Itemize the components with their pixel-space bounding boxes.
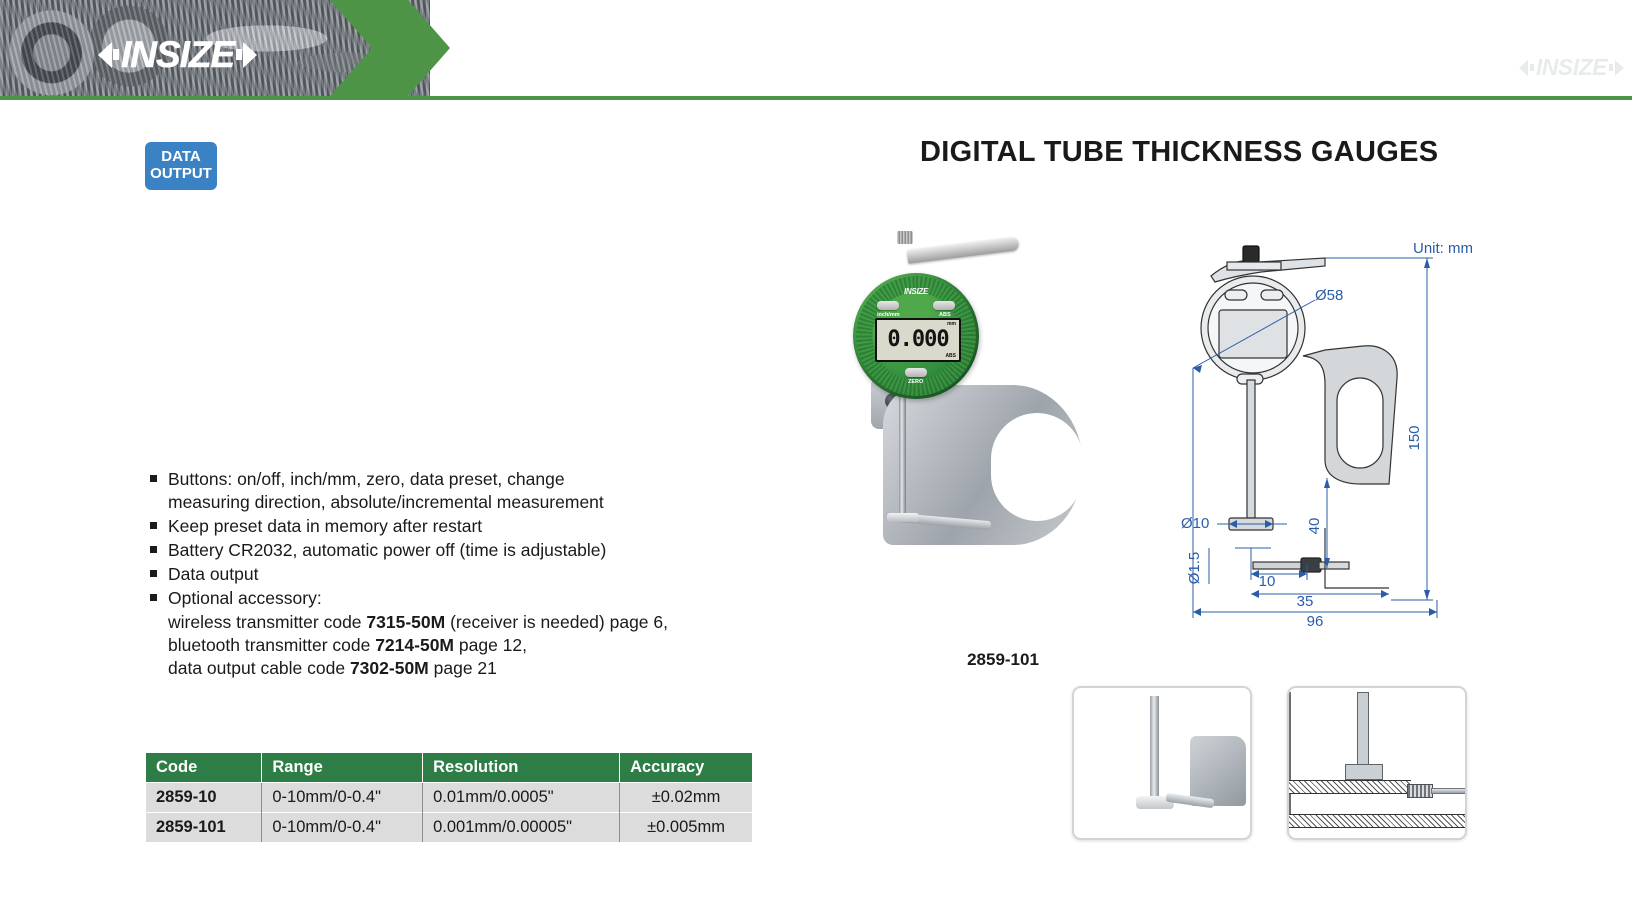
lcd-value: 0.000	[887, 329, 948, 351]
feature-list: Buttons: on/off, inch/mm, zero, data pre…	[148, 468, 788, 681]
zero-button-label: ZERO	[908, 379, 923, 385]
dimension-label-overall-width: 96	[1307, 613, 1324, 628]
column-header-range: Range	[262, 753, 423, 783]
detail-photo-anvil-probe	[1072, 686, 1252, 840]
page-title: DIGITAL TUBE THICKNESS GAUGES	[920, 136, 1438, 169]
logo-left-arrow-icon	[98, 42, 112, 68]
watermark-left-arrow-icon	[1519, 60, 1528, 76]
watermark-right-stem	[1609, 64, 1613, 71]
dimension-label-anvil-diameter: Ø10	[1181, 515, 1209, 532]
table-header-row: Code Range Resolution Accuracy	[146, 753, 752, 783]
column-header-accuracy: Accuracy	[620, 753, 752, 783]
gauge-c-frame	[843, 385, 1073, 585]
detail1-frame-arm	[1190, 736, 1246, 806]
gauge-brand-label: INSIZE	[904, 287, 928, 296]
watermark-right-arrow-icon	[1615, 60, 1624, 76]
logo-right-arrow-stem	[236, 49, 242, 60]
accessory-bluetooth-post: page 12,	[454, 635, 527, 655]
lever-knurled-cap	[897, 231, 913, 244]
detail2-tube-wall-upper	[1289, 780, 1411, 794]
feature-buttons-line2: measuring direction, absolute/incrementa…	[168, 491, 788, 514]
header-green-rule	[0, 96, 1632, 100]
accessory-wireless-code: 7315-50M	[366, 612, 445, 632]
feature-optional-accessory: Optional accessory:	[168, 587, 788, 610]
bullet-square-icon	[150, 522, 157, 529]
accessory-wireless-pre: wireless transmitter code	[168, 612, 366, 632]
specification-table: Code Range Resolution Accuracy 2859-10 0…	[146, 753, 752, 842]
bullet-square-icon	[150, 570, 157, 577]
bullet-square-icon	[150, 475, 157, 482]
detail2-spindle	[1357, 692, 1369, 764]
table-row: 2859-101 0-10mm/0-0.4" 0.001mm/0.00005" …	[146, 813, 752, 843]
anvil-disc	[887, 513, 919, 522]
watermark-left-stem	[1530, 64, 1534, 71]
detail2-tube-wall-lower	[1289, 814, 1465, 828]
product-photo: INSIZE inch/mm ABS 0.000 mm ABS ZERO 285…	[835, 225, 1125, 625]
detail2-probe-shaft	[1431, 788, 1467, 794]
technical-drawing: Unit: mm	[1175, 228, 1475, 628]
cell-range: 0-10mm/0-0.4"	[262, 813, 423, 843]
detail1-spindle	[1150, 696, 1159, 800]
feature-buttons-line1: Buttons: on/off, inch/mm, zero, data pre…	[168, 468, 788, 491]
product-model-label: 2859-101	[913, 650, 1093, 670]
badge-line-1: DATA	[161, 149, 200, 166]
feature-memory: Keep preset data in memory after restart	[168, 515, 788, 538]
logo-wordmark: INSIZE	[121, 36, 234, 73]
inch-mm-button[interactable]	[877, 301, 899, 310]
cell-resolution: 0.001mm/0.00005"	[423, 813, 620, 843]
lcd-mode-indicator: ABS	[945, 353, 956, 359]
accessory-cable-pre: data output cable code	[168, 658, 350, 678]
accessory-cable-post: page 21	[429, 658, 497, 678]
page-header: INSIZE INSIZE	[0, 0, 1632, 100]
accessory-data-cable: data output cable code 7302-50M page 21	[168, 657, 788, 680]
lcd-unit-indicator: mm	[947, 321, 956, 327]
detail2-anvil-block	[1345, 764, 1383, 780]
badge-line-2: OUTPUT	[150, 166, 212, 183]
zero-button[interactable]	[905, 368, 927, 377]
column-header-resolution: Resolution	[423, 753, 620, 783]
bullet-square-icon	[150, 546, 157, 553]
frame-cutout	[991, 413, 1083, 521]
list-item: Keep preset data in memory after restart	[148, 515, 788, 538]
measuring-spindle	[899, 395, 906, 515]
feature-battery: Battery CR2032, automatic power off (tim…	[168, 539, 788, 562]
cell-accuracy: ±0.02mm	[620, 783, 752, 813]
cell-resolution: 0.01mm/0.0005"	[423, 783, 620, 813]
detail2-measuring-probe	[1407, 784, 1433, 798]
accessory-wireless-transmitter: wireless transmitter code 7315-50M (rece…	[168, 611, 788, 634]
accessory-bluetooth-pre: bluetooth transmitter code	[168, 635, 375, 655]
clamp-lever	[907, 236, 1020, 264]
drawing-svg: Ø58 150 40 Ø10 Ø1.5 10 35 96	[1175, 228, 1475, 628]
insize-logo: INSIZE	[98, 36, 257, 73]
cell-code: 2859-101	[146, 813, 262, 843]
dimension-label-overall-height: 150	[1406, 425, 1423, 450]
dimension-label-throat-depth: 40	[1306, 518, 1323, 535]
detail-photo-tube-section	[1287, 686, 1467, 840]
insize-watermark: INSIZE	[1519, 56, 1624, 79]
feature-data-output: Data output	[168, 563, 788, 586]
bullet-square-icon	[150, 594, 157, 601]
cell-range: 0-10mm/0-0.4"	[262, 783, 423, 813]
list-item: Optional accessory: wireless transmitter…	[148, 587, 788, 679]
watermark-wordmark: INSIZE	[1536, 56, 1607, 79]
accessory-wireless-post: (receiver is needed) page 6,	[445, 612, 668, 632]
dimension-label-probe-length: 10	[1259, 573, 1276, 590]
detail2-frame-edge	[1289, 692, 1291, 828]
accessory-bluetooth-transmitter: bluetooth transmitter code 7214-50M page…	[168, 634, 788, 657]
column-header-code: Code	[146, 753, 262, 783]
dimension-label-probe-diameter: Ø1.5	[1186, 552, 1203, 585]
dimension-label-frame-depth: 35	[1297, 593, 1314, 610]
accessory-bluetooth-code: 7214-50M	[375, 635, 454, 655]
digital-indicator-head: INSIZE inch/mm ABS 0.000 mm ABS ZERO	[853, 273, 979, 399]
list-item: Battery CR2032, automatic power off (tim…	[148, 539, 788, 562]
table-row: 2859-10 0-10mm/0-0.4" 0.01mm/0.0005" ±0.…	[146, 783, 752, 813]
cell-code: 2859-10	[146, 783, 262, 813]
accessory-cable-code: 7302-50M	[350, 658, 429, 678]
lcd-display: 0.000 mm ABS	[875, 318, 961, 362]
list-item: Data output	[148, 563, 788, 586]
logo-left-arrow-stem	[113, 49, 119, 60]
list-item: Buttons: on/off, inch/mm, zero, data pre…	[148, 468, 788, 514]
cell-accuracy: ±0.005mm	[620, 813, 752, 843]
logo-right-arrow-icon	[243, 42, 257, 68]
dimension-label-dial-diameter: Ø58	[1315, 287, 1343, 304]
abs-button[interactable]	[933, 301, 955, 310]
data-output-badge: DATA OUTPUT	[145, 142, 217, 190]
